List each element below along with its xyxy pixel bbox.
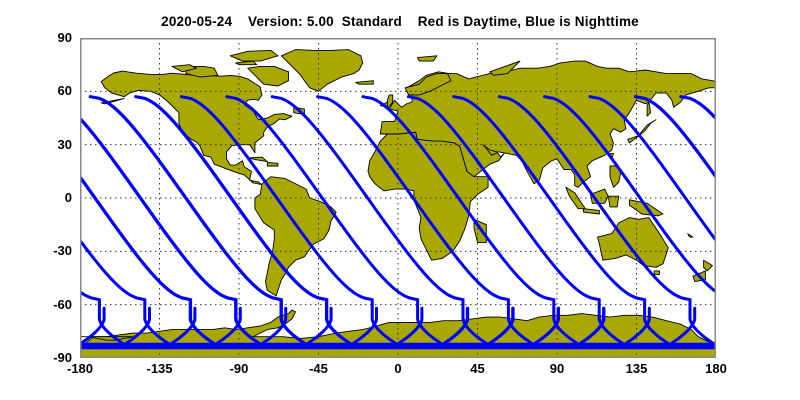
y-tick-label: -30 xyxy=(8,243,72,258)
x-tick-label: 180 xyxy=(676,361,756,376)
landmass-sulawesi xyxy=(608,196,619,207)
chart-title: 2020-05-24 Version: 5.00 Standard Red is… xyxy=(0,14,800,29)
landmass-tasmania xyxy=(654,271,659,275)
y-tick-label: 30 xyxy=(8,137,72,152)
x-tick-label: 135 xyxy=(597,361,677,376)
x-tick-label: -180 xyxy=(40,361,120,376)
x-tick-label: -45 xyxy=(279,361,359,376)
landmass-hispaniola xyxy=(267,162,278,166)
ground-track-figure: 2020-05-24 Version: 5.00 Standard Red is… xyxy=(0,0,800,400)
x-tick-label: 0 xyxy=(358,361,438,376)
x-tick-label: 45 xyxy=(438,361,518,376)
y-tick-label: 0 xyxy=(8,190,72,205)
x-tick-label: -90 xyxy=(199,361,279,376)
y-tick-label: -60 xyxy=(8,297,72,312)
x-tick-label: -135 xyxy=(120,361,200,376)
x-tick-label: 90 xyxy=(517,361,597,376)
y-tick-label: 60 xyxy=(8,83,72,98)
y-tick-label: 90 xyxy=(8,30,72,45)
map-canvas xyxy=(80,38,716,358)
plot-area xyxy=(80,38,716,358)
